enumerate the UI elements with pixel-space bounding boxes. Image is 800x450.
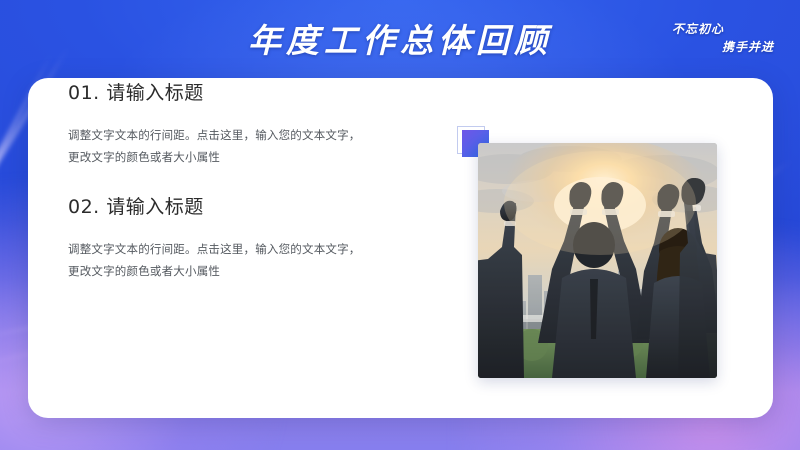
- team-photo-illustration: [478, 143, 717, 378]
- content-block-02-body: 调整文字文本的行间距。点击这里，输入您的文本文字， 更改文字的颜色或者大小属性: [68, 238, 438, 283]
- slogan-line-2: 携手并进: [666, 38, 778, 55]
- slogan-stamp: 不忘初心 携手并进: [666, 20, 778, 58]
- content-block-01: 01. 请输入标题 调整文字文本的行间距。点击这里，输入您的文本文字， 更改文字…: [68, 78, 438, 169]
- slogan-line-1: 不忘初心: [666, 20, 778, 37]
- content-block-02: 02. 请输入标题 调整文字文本的行间距。点击这里，输入您的文本文字， 更改文字…: [68, 192, 438, 283]
- title-bar: 年度工作总体回顾 不忘初心 携手并进: [0, 0, 800, 78]
- content-block-02-body-line-2: 更改文字的颜色或者大小属性: [68, 260, 438, 282]
- content-block-02-heading: 02. 请输入标题: [68, 192, 438, 219]
- content-block-01-body-line-1: 调整文字文本的行间距。点击这里，输入您的文本文字，: [68, 124, 438, 146]
- team-photo: [478, 143, 717, 378]
- slide-canvas: 年度工作总体回顾 不忘初心 携手并进 01. 请输入标题 调整文字文本的行间距。…: [0, 0, 800, 450]
- content-block-01-heading: 01. 请输入标题: [68, 78, 438, 105]
- content-block-01-body: 调整文字文本的行间距。点击这里，输入您的文本文字， 更改文字的颜色或者大小属性: [68, 124, 438, 169]
- content-block-01-body-line-2: 更改文字的颜色或者大小属性: [68, 146, 438, 168]
- content-block-02-body-line-1: 调整文字文本的行间距。点击这里，输入您的文本文字，: [68, 238, 438, 260]
